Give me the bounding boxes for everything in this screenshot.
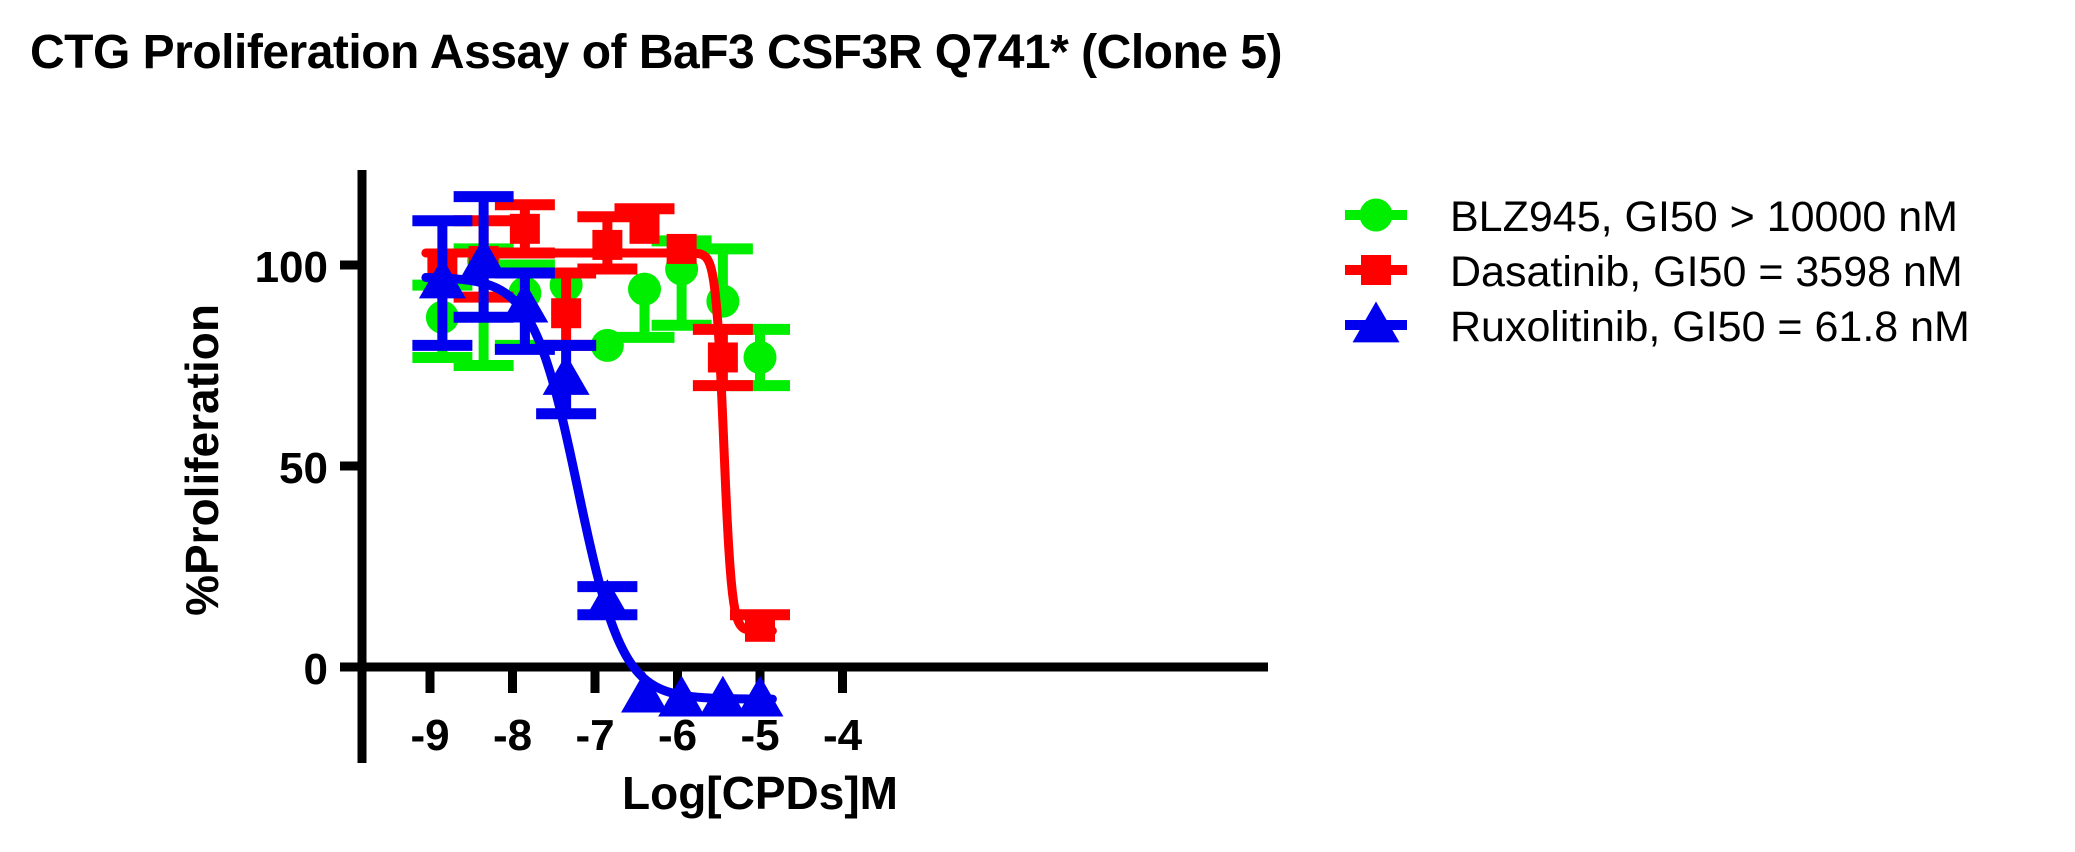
data-point [630, 214, 660, 244]
data-point [708, 342, 738, 372]
data-point [628, 273, 661, 306]
legend-marker-circle-icon [1360, 199, 1393, 232]
legend-entry-label: Dasatinib, GI50 = 3598 nM [1450, 248, 1963, 296]
x-axis-tick-label: -6 [658, 711, 697, 760]
legend-entry-label: BLZ945, GI50 > 10000 nM [1450, 193, 1958, 241]
data-point [744, 341, 777, 374]
y-axis-tick-label: 0 [304, 645, 328, 694]
x-axis-tick-label: -5 [740, 711, 779, 760]
legend-entry[interactable]: BLZ945, GI50 > 10000 nM [1345, 193, 1958, 241]
x-axis-tick-label: -8 [493, 711, 532, 760]
legend-marker-square-icon [1361, 255, 1391, 285]
chart-plot-area: 050100-9-8-7-6-5-4 Log[CPDs]M%Proliferat… [0, 0, 2075, 852]
data-point [592, 230, 622, 260]
data-point [510, 214, 540, 244]
y-axis-tick-label: 50 [279, 444, 328, 493]
series-group [412, 197, 790, 717]
data-point [551, 298, 581, 328]
data-point [667, 234, 697, 264]
x-axis-title: Log[CPDs]M [622, 767, 898, 819]
chart-legend: BLZ945, GI50 > 10000 nMDasatinib, GI50 =… [1345, 193, 1970, 351]
legend-entry[interactable]: Dasatinib, GI50 = 3598 nM [1345, 248, 1963, 296]
axes-group: 050100-9-8-7-6-5-4 [255, 170, 1268, 763]
x-axis-tick-label: -7 [575, 711, 614, 760]
x-axis-tick-label: -9 [410, 711, 449, 760]
legend-entry-label: Ruxolitinib, GI50 = 61.8 nM [1450, 303, 1970, 351]
x-axis-tick-label: -4 [823, 711, 863, 760]
legend-entry[interactable]: Ruxolitinib, GI50 = 61.8 nM [1345, 302, 1970, 351]
y-axis-title: %Proliferation [176, 304, 228, 616]
data-point [745, 612, 775, 642]
chart-page: CTG Proliferation Assay of BaF3 CSF3R Q7… [0, 0, 2075, 852]
y-axis-tick-label: 100 [255, 243, 328, 292]
